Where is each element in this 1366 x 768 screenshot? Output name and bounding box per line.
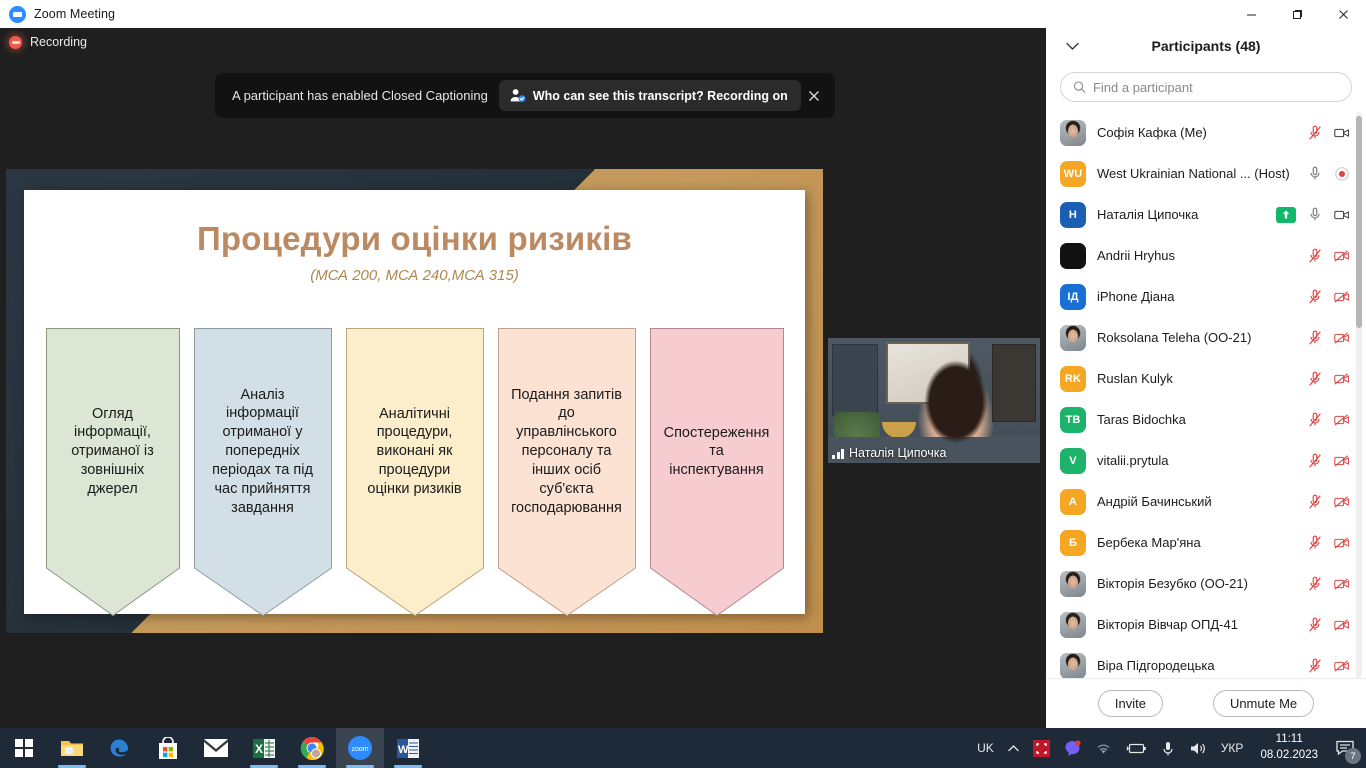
participant-status-icons [1307, 330, 1350, 346]
avatar: WU [1060, 161, 1086, 187]
wifi-icon[interactable] [1088, 728, 1119, 768]
participant-name: Наталія Ципочка [1097, 207, 1265, 222]
mic-on-icon [1307, 166, 1323, 182]
screen-capture-icon[interactable] [1026, 728, 1057, 768]
mic-muted-icon [1307, 658, 1323, 674]
camera-off-icon [1334, 658, 1350, 674]
cc-pill-label: Who can see this transcript? Recording o… [533, 89, 788, 103]
participant-name: Андрій Бачинський [1097, 494, 1296, 509]
minimize-button[interactable] [1228, 0, 1274, 28]
avatar: Н [1060, 202, 1086, 228]
word-icon[interactable]: W [384, 728, 432, 768]
participant-status-icons [1307, 248, 1350, 264]
slide-shape-text: Спостереження та інспектування [650, 424, 784, 481]
avatar: V [1060, 448, 1086, 474]
shared-slide: Процедури оцінки ризиків (МСА 200, МСА 2… [24, 190, 805, 614]
recording-label: Recording [30, 35, 87, 49]
camera-off-icon [1334, 535, 1350, 551]
participant-row[interactable]: Вікторія Вівчар ОПД-41 [1046, 604, 1366, 645]
edge-icon[interactable] [96, 728, 144, 768]
recording-indicator-icon [1334, 166, 1350, 182]
closed-caption-banner: A participant has enabled Closed Caption… [215, 73, 835, 118]
avatar: TB [1060, 407, 1086, 433]
slide-shape-text: Огляд інформації, отриманої із зовнішніх… [46, 405, 180, 499]
participant-name: vitalii.prytula [1097, 453, 1296, 468]
search-icon [1073, 80, 1086, 94]
participant-row[interactable]: ННаталія Ципочка [1046, 194, 1366, 235]
participant-row[interactable]: Vvitalii.prytula [1046, 440, 1366, 481]
participant-status-icons [1307, 494, 1350, 510]
participant-row[interactable]: IДiPhone Діана [1046, 276, 1366, 317]
volume-icon[interactable] [1182, 728, 1214, 768]
unmute-me-button[interactable]: Unmute Me [1213, 690, 1314, 717]
search-box[interactable] [1060, 72, 1352, 102]
maximize-button[interactable] [1274, 0, 1320, 28]
participants-title: Participants (48) [1046, 38, 1366, 54]
participant-row[interactable]: Вікторія Безубко (OO-21) [1046, 563, 1366, 604]
participant-row[interactable]: AАндрій Бачинський [1046, 481, 1366, 522]
taskbar-clock[interactable]: 11:11 08.02.2023 [1250, 728, 1328, 768]
participants-list[interactable]: Софія Кафка (Me)WUWest Ukrainian Nationa… [1046, 112, 1366, 678]
slide-shape: Аналіз інформації отриманої у попередніх… [194, 328, 332, 616]
cc-banner-close-button[interactable] [801, 81, 828, 111]
slide-shape: Аналітичні процедури, виконані як процед… [346, 328, 484, 616]
window-controls [1228, 0, 1366, 28]
mic-muted-icon [1307, 125, 1323, 141]
participant-row[interactable]: Roksolana Teleha (OO-21) [1046, 317, 1366, 358]
video-bg-shelf-left [832, 344, 878, 416]
participant-row[interactable]: Софія Кафка (Me) [1046, 112, 1366, 153]
svg-text:X: X [255, 742, 263, 756]
avatar [1060, 325, 1086, 351]
avatar: A [1060, 489, 1086, 515]
search-container [1046, 64, 1366, 112]
camera-on-icon [1334, 125, 1350, 141]
avatar [1060, 243, 1086, 269]
window-title: Zoom Meeting [34, 7, 115, 21]
slide-shape: Спостереження та інспектування [650, 328, 784, 616]
participant-name: Софія Кафка (Me) [1097, 125, 1296, 140]
slide-subtitle: (МСА 200, МСА 240,МСА 315) [24, 267, 805, 284]
participant-name: iPhone Діана [1097, 289, 1296, 304]
participant-status-icons [1307, 576, 1350, 592]
action-center-icon[interactable]: 7 [1328, 728, 1362, 768]
windows-taskbar: X zoom W [0, 728, 1366, 768]
slide-shape-text: Аналітичні процедури, виконані як процед… [346, 405, 484, 499]
microphone-icon[interactable] [1154, 728, 1182, 768]
mic-muted-icon [1307, 453, 1323, 469]
participant-status-icons [1307, 535, 1350, 551]
video-bg-shelf-right [992, 344, 1036, 422]
close-button[interactable] [1320, 0, 1366, 28]
participant-row[interactable]: ББербека Мар'яна [1046, 522, 1366, 563]
participant-status-icons [1307, 412, 1350, 428]
participant-status-icons [1307, 617, 1350, 633]
cc-message: A participant has enabled Closed Caption… [232, 88, 488, 103]
notification-count-badge: 7 [1345, 748, 1361, 764]
chevron-down-icon[interactable] [1062, 36, 1082, 56]
mail-icon[interactable] [192, 728, 240, 768]
video-name-label: Наталія Ципочка [832, 446, 946, 460]
participant-name: Вікторія Безубко (OO-21) [1097, 576, 1296, 591]
chrome-icon[interactable] [288, 728, 336, 768]
mic-muted-icon [1307, 330, 1323, 346]
camera-off-icon [1334, 453, 1350, 469]
slide-shapes: Огляд інформації, отриманої із зовнішніх… [24, 328, 805, 618]
avatar [1060, 612, 1086, 638]
camera-on-icon [1334, 207, 1350, 223]
invite-button[interactable]: Invite [1098, 690, 1163, 717]
participant-row[interactable]: RKRuslan Kulyk [1046, 358, 1366, 399]
avatar [1060, 571, 1086, 597]
close-icon [808, 90, 820, 102]
participant-name: Бербека Мар'яна [1097, 535, 1296, 550]
camera-off-icon [1334, 248, 1350, 264]
participant-status-icons [1276, 207, 1350, 223]
slide-shape: Огляд інформації, отриманої із зовнішніх… [46, 328, 180, 616]
camera-off-icon [1334, 617, 1350, 633]
mic-muted-icon [1307, 576, 1323, 592]
participants-panel-footer: Invite Unmute Me [1046, 678, 1366, 728]
windows-start-icon[interactable] [0, 728, 48, 768]
camera-off-icon [1334, 371, 1350, 387]
slide-shape: Подання запитів до управлінського персон… [498, 328, 636, 616]
participant-status-icons [1307, 166, 1350, 182]
person-check-icon [509, 87, 526, 104]
participant-name: Roksolana Teleha (OO-21) [1097, 330, 1296, 345]
camera-off-icon [1334, 576, 1350, 592]
mic-muted-icon [1307, 248, 1323, 264]
camera-off-icon [1334, 412, 1350, 428]
slide-shape-text: Подання запитів до управлінського персон… [498, 386, 636, 518]
clock-date: 08.02.2023 [1260, 748, 1318, 764]
video-person [914, 350, 998, 460]
participants-panel: Participants (48) Софія Кафка (Me)WUWest… [1046, 28, 1366, 728]
viber-icon[interactable] [1057, 728, 1088, 768]
signal-bars-icon [832, 448, 844, 459]
zoom-logo-icon [9, 6, 26, 23]
screen-share-badge-icon [1276, 207, 1296, 223]
avatar [1060, 653, 1086, 679]
search-input[interactable] [1093, 80, 1339, 95]
participants-scrollbar[interactable] [1356, 116, 1362, 328]
participant-name: Ruslan Kulyk [1097, 371, 1296, 386]
participant-name: West Ukrainian National ... (Host) [1097, 166, 1296, 181]
participant-status-icons [1307, 289, 1350, 305]
participant-name: Andrii Hryhus [1097, 248, 1296, 263]
participant-status-icons [1307, 125, 1350, 141]
mic-muted-icon [1307, 617, 1323, 633]
mic-muted-icon [1307, 371, 1323, 387]
slide-shape-text: Аналіз інформації отриманої у попередніх… [194, 386, 332, 518]
participant-row[interactable]: Andrii Hryhus [1046, 235, 1366, 276]
excel-icon[interactable]: X [240, 728, 288, 768]
meeting-stage: Recording A participant has enabled Clos… [0, 28, 1046, 728]
window-titlebar: Zoom Meeting [0, 0, 1366, 28]
mic-muted-icon [1307, 535, 1323, 551]
tray-lang-indicator[interactable]: UK [970, 728, 1001, 768]
zoom-icon[interactable]: zoom [336, 728, 384, 768]
participants-panel-header: Participants (48) [1046, 28, 1366, 64]
keyboard-language[interactable]: УКР [1214, 728, 1251, 768]
participant-status-icons [1307, 658, 1350, 674]
mic-muted-icon [1307, 289, 1323, 305]
video-participant-name: Наталія Ципочка [849, 446, 946, 460]
clock-time: 11:11 [1276, 732, 1303, 748]
participant-status-icons [1307, 371, 1350, 387]
recording-indicator: Recording [9, 35, 87, 49]
participant-row[interactable]: Віра Підгородецька [1046, 645, 1366, 678]
recording-dot-icon [9, 36, 22, 49]
camera-off-icon [1334, 289, 1350, 305]
mic-muted-icon [1307, 494, 1323, 510]
file-explorer-icon[interactable] [48, 728, 96, 768]
svg-text:zoom: zoom [351, 746, 368, 753]
participant-row[interactable]: TBTaras Bidochka [1046, 399, 1366, 440]
avatar: RK [1060, 366, 1086, 392]
avatar: Б [1060, 530, 1086, 556]
mic-on-icon [1307, 207, 1323, 223]
participant-name: Віра Підгородецька [1097, 658, 1296, 673]
avatar [1060, 120, 1086, 146]
camera-off-icon [1334, 330, 1350, 346]
svg-text:W: W [398, 744, 409, 756]
slide-title: Процедури оцінки ризиків [24, 220, 805, 258]
avatar: IД [1060, 284, 1086, 310]
participant-name: Taras Bidochka [1097, 412, 1296, 427]
transcript-notice-button[interactable]: Who can see this transcript? Recording o… [499, 80, 801, 111]
microsoft-store-icon[interactable] [144, 728, 192, 768]
participant-status-icons [1307, 453, 1350, 469]
system-tray: UK [970, 728, 1366, 768]
video-thumbnail[interactable]: Наталія Ципочка [828, 338, 1040, 463]
participant-row[interactable]: WUWest Ukrainian National ... (Host) [1046, 153, 1366, 194]
participant-name: Вікторія Вівчар ОПД-41 [1097, 617, 1296, 632]
battery-icon[interactable] [1119, 728, 1154, 768]
chevron-up-icon[interactable] [1001, 728, 1026, 768]
mic-muted-icon [1307, 412, 1323, 428]
camera-off-icon [1334, 494, 1350, 510]
